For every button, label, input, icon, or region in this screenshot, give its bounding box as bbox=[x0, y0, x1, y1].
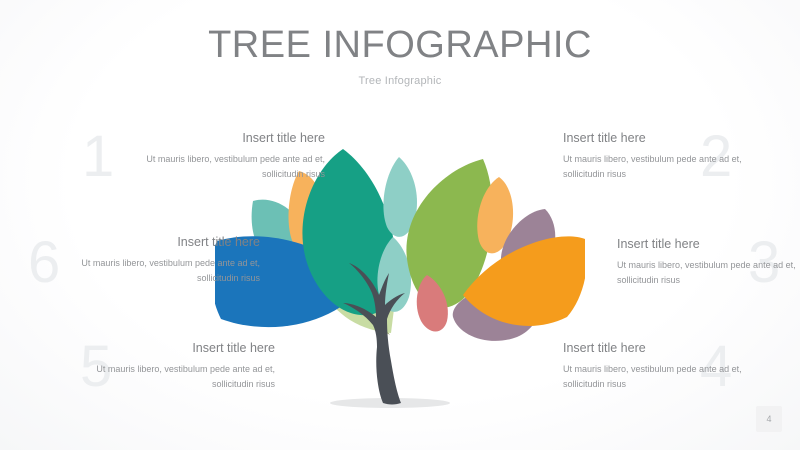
page-number-badge: 4 bbox=[756, 406, 782, 432]
block-title-3: Insert title here bbox=[617, 236, 800, 252]
info-block-1[interactable]: Insert title here Ut mauris libero, vest… bbox=[120, 130, 325, 181]
page-title: TREE INFOGRAPHIC bbox=[0, 22, 800, 68]
block-body-1: Ut mauris libero, vestibulum pede ante a… bbox=[120, 152, 325, 181]
block-body-2: Ut mauris libero, vestibulum pede ante a… bbox=[563, 152, 768, 181]
slide: TREE INFOGRAPHIC Tree Infographic bbox=[0, 0, 800, 450]
block-number-1: 1 bbox=[82, 128, 114, 186]
block-title-6: Insert title here bbox=[55, 234, 260, 250]
slide-header: TREE INFOGRAPHIC Tree Infographic bbox=[0, 22, 800, 87]
info-block-3[interactable]: Insert title here Ut mauris libero, vest… bbox=[617, 236, 800, 287]
info-block-6[interactable]: Insert title here Ut mauris libero, vest… bbox=[55, 234, 260, 285]
block-title-4: Insert title here bbox=[563, 340, 768, 356]
block-title-1: Insert title here bbox=[120, 130, 325, 146]
block-title-5: Insert title here bbox=[70, 340, 275, 356]
block-body-6: Ut mauris libero, vestibulum pede ante a… bbox=[55, 256, 260, 285]
block-title-2: Insert title here bbox=[563, 130, 768, 146]
block-body-3: Ut mauris libero, vestibulum pede ante a… bbox=[617, 258, 800, 287]
block-body-5: Ut mauris libero, vestibulum pede ante a… bbox=[70, 362, 275, 391]
block-body-4: Ut mauris libero, vestibulum pede ante a… bbox=[563, 362, 768, 391]
page-subtitle: Tree Infographic bbox=[0, 75, 800, 87]
info-block-4[interactable]: Insert title here Ut mauris libero, vest… bbox=[563, 340, 768, 391]
info-block-5[interactable]: Insert title here Ut mauris libero, vest… bbox=[70, 340, 275, 391]
info-block-2[interactable]: Insert title here Ut mauris libero, vest… bbox=[563, 130, 768, 181]
